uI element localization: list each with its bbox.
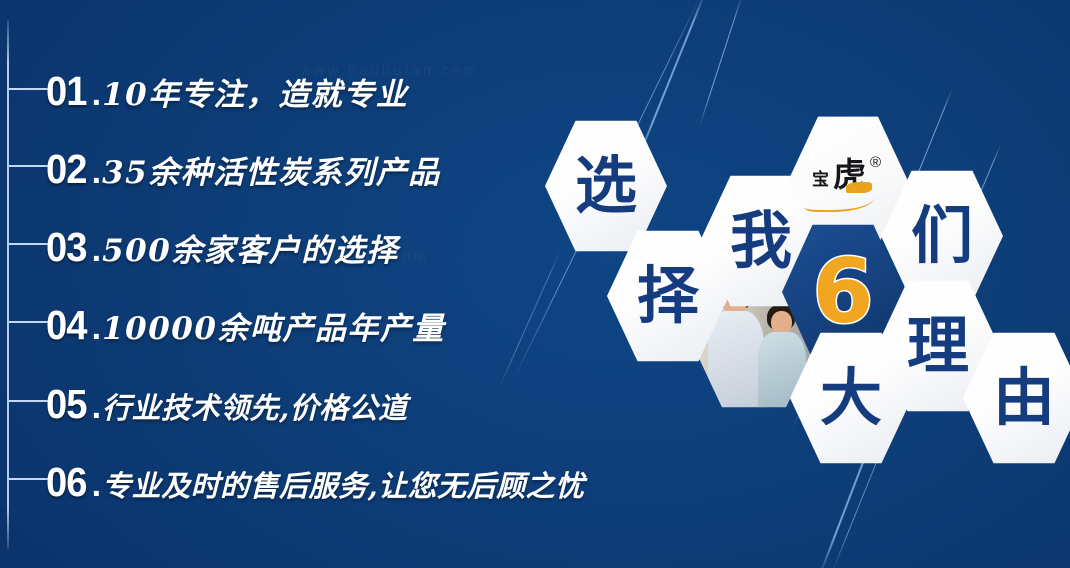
feature-separator: . xyxy=(92,231,101,270)
feature-row-3: 03 . 500余家客户的选择 xyxy=(46,224,399,271)
feature-separator: . xyxy=(92,153,101,192)
feature-separator: . xyxy=(92,388,101,427)
feature-text: 500余家客户的选择 xyxy=(102,225,399,270)
feature-text: 10000余吨产品年产量 xyxy=(102,303,445,348)
hex-glyph: 们 xyxy=(911,205,973,267)
feature-text: 行业技术领先,价格公道 xyxy=(102,385,408,427)
left-rail xyxy=(7,20,9,550)
feature-row-4: 04 . 10000余吨产品年产量 xyxy=(46,302,445,349)
feature-row-6: 06 . 专业及时的售后服务,让您无后顾之忧 xyxy=(46,459,585,506)
hex-glyph: 由 xyxy=(993,367,1055,429)
registered-mark-icon: ® xyxy=(870,154,881,171)
diagonal-streak xyxy=(499,250,561,388)
feature-separator: . xyxy=(92,75,101,114)
feature-number: 05 xyxy=(46,381,87,428)
feature-row-1: 01 . 10年专注，造就专业 xyxy=(46,68,408,115)
feature-separator: . xyxy=(92,309,101,348)
hex-glyph: 择 xyxy=(637,265,699,327)
hex-glyph: 选 xyxy=(575,155,637,217)
feature-number: 06 xyxy=(46,459,87,506)
feature-text: 35余种活性炭系列产品 xyxy=(102,147,441,192)
logo-swoosh-icon xyxy=(804,188,874,212)
feature-number: 01 xyxy=(46,68,87,115)
feature-row-2: 02 . 35余种活性炭系列产品 xyxy=(46,146,441,193)
feature-number: 04 xyxy=(46,302,87,349)
hex-glyph: 理 xyxy=(907,315,969,377)
feature-row-5: 05 . 行业技术领先,价格公道 xyxy=(46,381,408,428)
hex-glyph: 我 xyxy=(730,210,792,272)
feature-text: 10年专注，造就专业 xyxy=(102,69,408,114)
feature-separator: . xyxy=(92,466,101,505)
logo-brand-char-2: 虎 xyxy=(833,158,866,191)
feature-number: 02 xyxy=(46,146,87,193)
hex-glyph: 6 xyxy=(812,248,873,336)
logo-tiger-icon xyxy=(846,182,872,193)
hex-glyph: 大 xyxy=(820,367,882,429)
feature-text: 专业及时的售后服务,让您无后顾之忧 xyxy=(102,463,585,505)
diagonal-streak xyxy=(699,0,744,128)
promo-banner: www.baohutan.com www.baohutan.com 01 . 1… xyxy=(0,0,1070,568)
logo-brand-char-1: 宝 xyxy=(812,172,829,189)
feature-number: 03 xyxy=(46,224,87,271)
